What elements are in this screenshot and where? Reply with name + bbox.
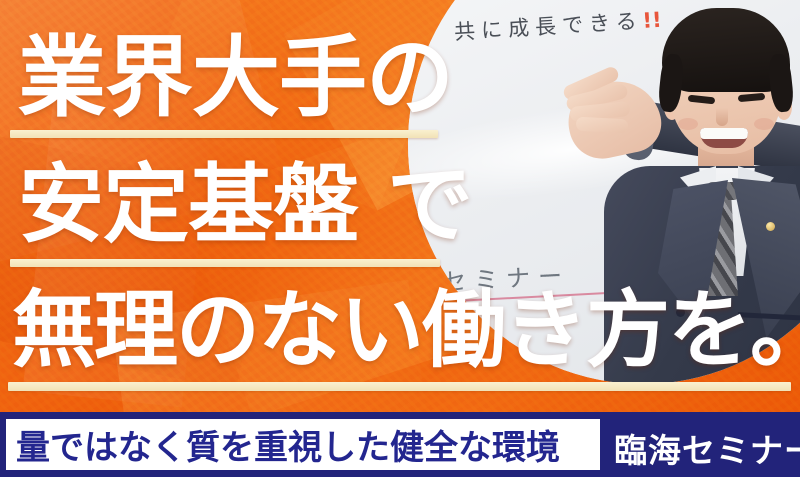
headline-line-1: 業界大手の [18,34,453,122]
footer-bar: 量ではなく質を重視した健全な環境 臨海セミナー [0,412,800,477]
footer-tagline: 量ではなく質を重視した健全な環境 [16,420,560,469]
recruitment-banner: 共に成長できる!! セミナー [0,0,800,477]
headline-underline-2 [10,259,440,267]
brand-name: 臨海セミナー [614,424,800,472]
headline-line-2: 安定基盤 で [18,162,472,248]
footer-tagline-panel: 量ではなく質を重視した健全な環境 [6,419,600,470]
headline-line-3: 無理のない働き方を。 [12,288,800,372]
headline-underline-3 [8,382,791,391]
headline-block: 業界大手の 安定基盤 で 無理のない働き方を。 [0,0,800,400]
headline-underline-1 [10,130,438,138]
